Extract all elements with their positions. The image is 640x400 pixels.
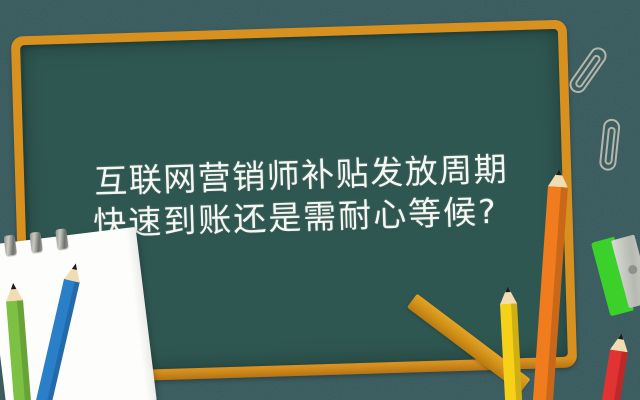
spiral-ring-icon — [55, 228, 68, 249]
pencil-body — [600, 349, 628, 400]
poster-canvas: 互联网营销师补贴发放周期 快速到账还是需耐心等候? — [0, 0, 640, 400]
red-pencil-icon — [600, 349, 628, 400]
headline-line-1: 互联网营销师补贴发放周期 — [24, 147, 563, 205]
pencil-sharpener-icon — [591, 232, 640, 317]
spiral-ring-icon — [29, 231, 42, 252]
pencil-wood-tip — [610, 332, 631, 353]
spiral-ring-icon — [4, 235, 17, 256]
